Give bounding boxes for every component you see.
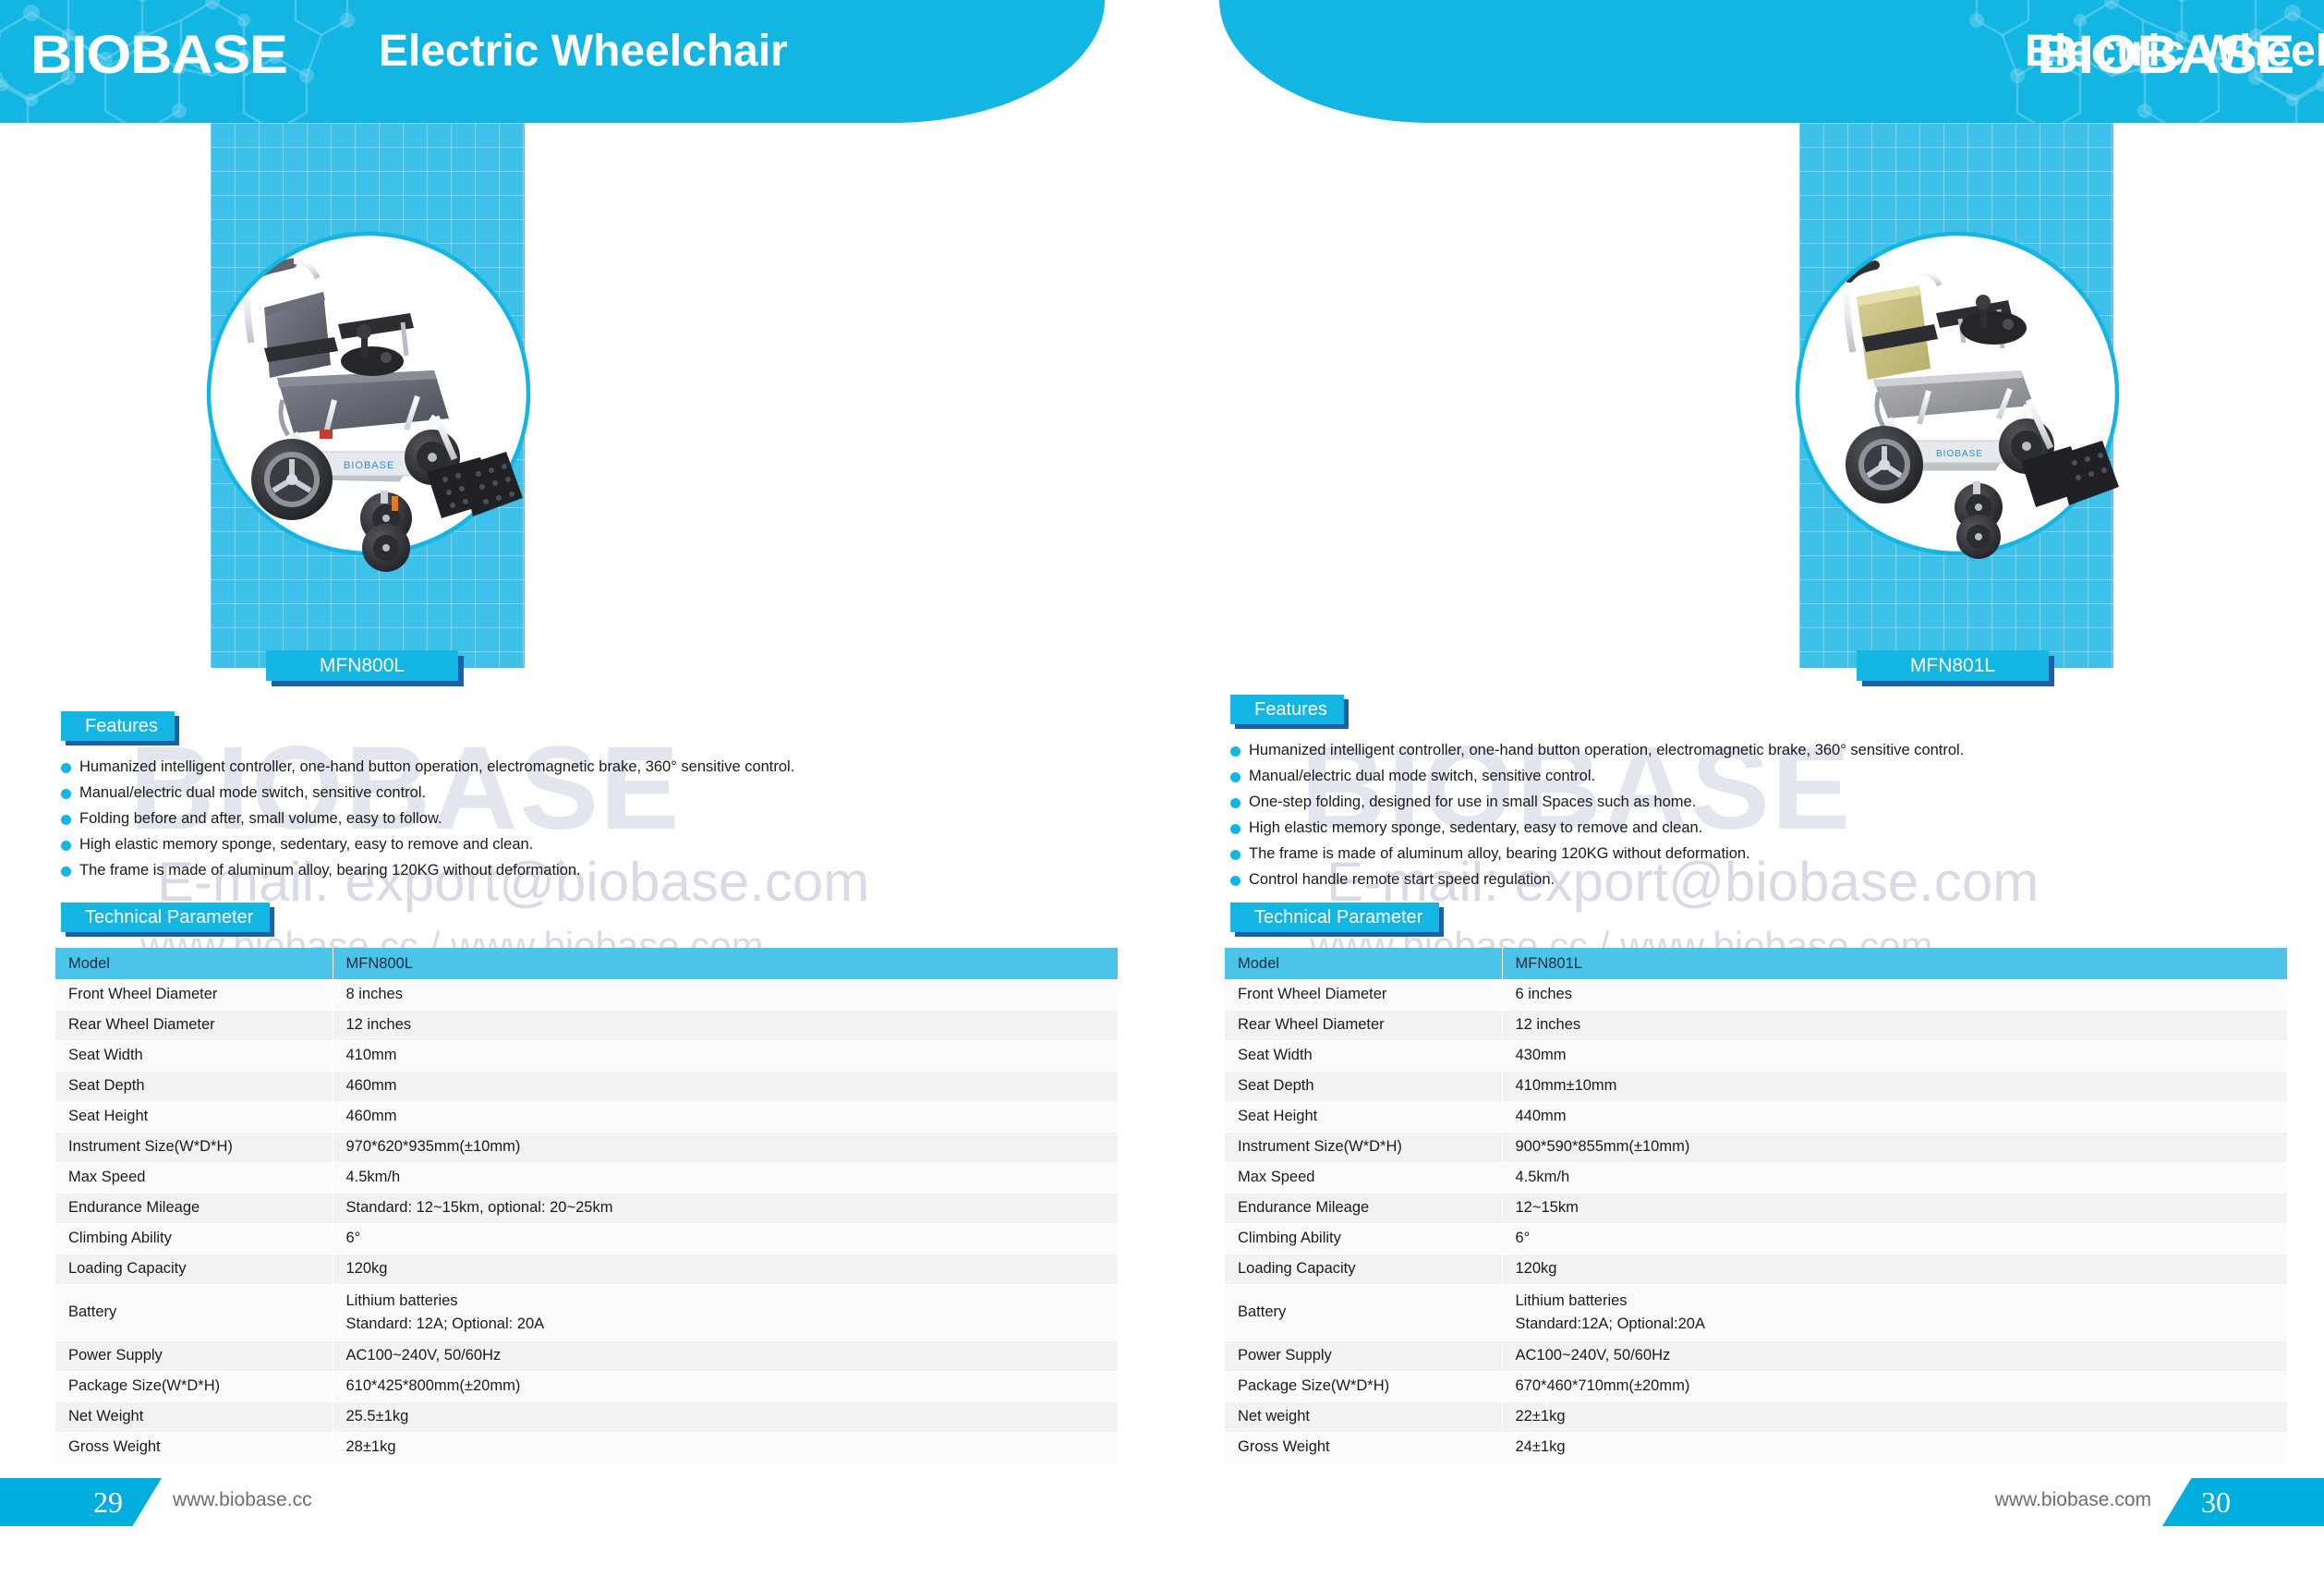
spec-value-cell: Lithium batteriesStandard: 12A; Optional… [333,1284,1118,1340]
feature-text: Manual/electric dual mode switch, sensit… [1249,767,1595,785]
table-header-cell: MFN800L [333,948,1118,979]
spec-label-cell: Package Size(W*D*H) [1225,1371,1502,1401]
footer-url[interactable]: www.biobase.com [1995,1489,2151,1511]
spec-label-cell: Battery [55,1284,333,1340]
table-row: Seat Width430mm [1225,1040,2287,1071]
table-row: Seat Height460mm [55,1101,1118,1132]
table-header-cell: Model [1225,948,1502,979]
spec-value-line: Lithium batteries [346,1290,1118,1313]
feature-item: One-step folding, designed for use in sm… [1230,793,2293,811]
feature-text: High elastic memory sponge, sedentary, e… [79,835,533,854]
spec-label-cell: Seat Depth [1225,1071,1502,1101]
table-row: Front Wheel Diameter8 inches [55,979,1118,1010]
table-row: Gross Weight28±1kg [55,1432,1118,1462]
footer-url[interactable]: www.biobase.cc [173,1489,312,1511]
spec-value-cell: 12 inches [1502,1010,2287,1040]
spec-label-cell: Loading Capacity [1225,1254,1502,1284]
feature-item: Humanized intelligent controller, one-ha… [1230,741,2293,759]
feature-text: High elastic memory sponge, sedentary, e… [1249,818,1702,837]
technical-parameter-badge: Technical Parameter [1230,903,1439,932]
features-section-badge: Features [61,711,175,741]
spec-label-cell: Net weight [1225,1401,1502,1432]
features-section-badge: Features [1230,695,1344,724]
spec-value-cell: 670*460*710mm(±20mm) [1502,1371,2287,1401]
spec-label-cell: Package Size(W*D*H) [55,1371,333,1401]
feature-item: Humanized intelligent controller, one-ha… [61,758,1123,776]
spec-value-line: Standard:12A; Optional:20A [1516,1313,2287,1336]
spec-label-cell: Endurance Mileage [1225,1193,1502,1223]
page-header-left: BIOBASE Electric Wheelchair [0,0,1105,123]
spec-table-left: Model MFN800L Front Wheel Diameter8 inch… [55,948,1119,1463]
table-row: Max Speed4.5km/h [1225,1162,2287,1193]
feature-text: The frame is made of aluminum alloy, bea… [79,861,581,879]
svg-text:BIOBASE: BIOBASE [1936,449,1983,459]
product-image-zone-left: BIOBASE [0,123,1162,686]
table-row: Front Wheel Diameter6 inches [1225,979,2287,1010]
spec-value-cell: Standard: 12~15km, optional: 20~25km [333,1193,1118,1223]
feature-item: Folding before and after, small volume, … [61,809,1123,828]
spec-label-cell: Net Weight [55,1401,333,1432]
spec-value-line: Lithium batteries [1516,1290,2287,1313]
table-header-row: Model MFN801L [1225,948,2287,979]
spec-label-cell: Power Supply [1225,1340,1502,1371]
table-row: Package Size(W*D*H)670*460*710mm(±20mm) [1225,1371,2287,1401]
spec-value-cell: 4.5km/h [333,1162,1118,1193]
spec-value-cell: 970*620*935mm(±10mm) [333,1132,1118,1162]
catalog-page-right: BIOBASE E-mail: export@biobase.com www.b… [1162,0,2324,1588]
bullet-dot-icon [1230,876,1241,886]
spec-value-cell: 25.5±1kg [333,1401,1118,1432]
table-row: Climbing Ability6° [1225,1223,2287,1254]
bullet-dot-icon [1230,746,1241,757]
spec-value-cell: 8 inches [333,979,1118,1010]
table-header-cell: Model [55,948,333,979]
spec-value-cell: 6° [1502,1223,2287,1254]
feature-item: Manual/electric dual mode switch, sensit… [61,783,1123,802]
table-row: Net weight22±1kg [1225,1401,2287,1432]
spec-value-cell: 610*425*800mm(±20mm) [333,1371,1118,1401]
page-title: Electric Wheelchair [379,26,788,77]
table-row: Instrument Size(W*D*H)900*590*855mm(±10m… [1225,1132,2287,1162]
spec-label-cell: Endurance Mileage [55,1193,333,1223]
spec-label-cell: Max Speed [55,1162,333,1193]
spec-table-body-right: Front Wheel Diameter6 inchesRear Wheel D… [1225,979,2287,1462]
bullet-dot-icon [1230,772,1241,782]
table-row: Package Size(W*D*H)610*425*800mm(±20mm) [55,1371,1118,1401]
spec-value-cell: 24±1kg [1502,1432,2287,1462]
bullet-dot-icon [61,867,71,877]
table-row: Loading Capacity120kg [55,1254,1118,1284]
feature-text: One-step folding, designed for use in sm… [1249,793,1696,811]
spec-value-cell: 430mm [1502,1040,2287,1071]
feature-item: High elastic memory sponge, sedentary, e… [1230,818,2293,837]
model-badge: MFN801L [1857,650,2049,681]
table-row: Max Speed4.5km/h [55,1162,1118,1193]
spec-label-cell: Power Supply [55,1340,333,1371]
spec-value-cell: 120kg [1502,1254,2287,1284]
bullet-dot-icon [61,789,71,799]
table-header-cell: MFN801L [1502,948,2287,979]
product-photo: BIOBASE [0,123,1162,686]
spec-value-cell: 22±1kg [1502,1401,2287,1432]
page-footer-right: 30 www.biobase.com [1162,1478,2324,1588]
feature-text: Folding before and after, small volume, … [79,809,442,828]
feature-item: Manual/electric dual mode switch, sensit… [1230,767,2293,785]
spec-value-cell: 6° [333,1223,1118,1254]
bullet-dot-icon [61,841,71,851]
spec-label-cell: Instrument Size(W*D*H) [55,1132,333,1162]
table-row: Seat Depth460mm [55,1071,1118,1101]
feature-text: Manual/electric dual mode switch, sensit… [79,783,426,802]
feature-item: The frame is made of aluminum alloy, bea… [61,861,1123,879]
feature-item: High elastic memory sponge, sedentary, e… [61,835,1123,854]
product-image-zone-right: BIOBASE [1162,123,2324,686]
spec-label-cell: Max Speed [1225,1162,1502,1193]
spec-label-cell: Seat Width [1225,1040,1502,1071]
spec-value-cell: 460mm [333,1101,1118,1132]
feature-text: The frame is made of aluminum alloy, bea… [1249,844,1750,863]
spec-label-cell: Climbing Ability [55,1223,333,1254]
table-row: Seat Depth410mm±10mm [1225,1071,2287,1101]
table-row: Endurance Mileage12~15km [1225,1193,2287,1223]
bullet-dot-icon [61,763,71,773]
page-footer-left: 29 www.biobase.cc [0,1478,1162,1588]
spec-value-cell: 6 inches [1502,979,2287,1010]
table-row: BatteryLithium batteriesStandard:12A; Op… [1225,1284,2287,1340]
table-row: Rear Wheel Diameter12 inches [55,1010,1118,1040]
spec-label-cell: Front Wheel Diameter [1225,979,1502,1010]
spec-label-cell: Rear Wheel Diameter [55,1010,333,1040]
spec-value-cell: 460mm [333,1071,1118,1101]
feature-text: Control handle remote start speed regula… [1249,870,1555,889]
table-row: Net Weight25.5±1kg [55,1401,1118,1432]
spec-value-cell: 440mm [1502,1101,2287,1132]
spec-value-cell: 410mm±10mm [1502,1071,2287,1101]
feature-item: Control handle remote start speed regula… [1230,870,2293,889]
spec-table-body-left: Front Wheel Diameter8 inchesRear Wheel D… [55,979,1118,1462]
feature-text: Humanized intelligent controller, one-ha… [1249,741,1964,759]
spec-table-right: Model MFN801L Front Wheel Diameter6 inch… [1225,948,2288,1463]
spec-label-cell: Battery [1225,1284,1502,1340]
page-header-right: BIOBASE Electric Wheelchair [1219,0,2324,123]
spec-label-cell: Seat Depth [55,1071,333,1101]
catalog-spread: BIOBASE E-mail: export@biobase.com www.b… [0,0,2324,1588]
spec-value-cell: AC100~240V, 50/60Hz [333,1340,1118,1371]
feature-text: Humanized intelligent controller, one-ha… [79,758,794,776]
brand-logo: BIOBASE [30,24,287,86]
bullet-dot-icon [1230,824,1241,834]
spec-value-line: Standard: 12A; Optional: 20A [346,1313,1118,1336]
spec-label-cell: Front Wheel Diameter [55,979,333,1010]
page-number: 29 [0,1478,162,1526]
spec-value-cell: AC100~240V, 50/60Hz [1502,1340,2287,1371]
table-row: Gross Weight24±1kg [1225,1432,2287,1462]
product-photo: BIOBASE [1162,123,2324,686]
table-row: Rear Wheel Diameter12 inches [1225,1010,2287,1040]
spec-value-cell: 12 inches [333,1010,1118,1040]
features-list-left: Humanized intelligent controller, one-ha… [61,758,1123,887]
spec-label-cell: Seat Width [55,1040,333,1071]
page-seam-divider [1160,0,1162,1588]
bullet-dot-icon [1230,850,1241,860]
svg-text:BIOBASE: BIOBASE [344,460,394,471]
table-row: Climbing Ability6° [55,1223,1118,1254]
bullet-dot-icon [1230,798,1241,808]
spec-label-cell: Gross Weight [1225,1432,1502,1462]
bullet-dot-icon [61,815,71,825]
spec-label-cell: Instrument Size(W*D*H) [1225,1132,1502,1162]
model-badge: MFN800L [266,650,458,681]
page-title: Electric Wheelchair [2025,26,2324,77]
feature-item: The frame is made of aluminum alloy, bea… [1230,844,2293,863]
catalog-page-left: BIOBASE E-mail: export@biobase.com www.b… [0,0,1162,1588]
spec-value-cell: 410mm [333,1040,1118,1071]
features-list-right: Humanized intelligent controller, one-ha… [1230,741,2293,896]
spec-label-cell: Rear Wheel Diameter [1225,1010,1502,1040]
table-row: Power SupplyAC100~240V, 50/60Hz [1225,1340,2287,1371]
table-row: Power SupplyAC100~240V, 50/60Hz [55,1340,1118,1371]
spec-value-cell: 12~15km [1502,1193,2287,1223]
spec-value-cell: 4.5km/h [1502,1162,2287,1193]
table-row: BatteryLithium batteriesStandard: 12A; O… [55,1284,1118,1340]
table-row: Instrument Size(W*D*H)970*620*935mm(±10m… [55,1132,1118,1162]
table-header-row: Model MFN800L [55,948,1118,979]
spec-label-cell: Seat Height [55,1101,333,1132]
spec-label-cell: Seat Height [1225,1101,1502,1132]
spec-value-cell: 900*590*855mm(±10mm) [1502,1132,2287,1162]
spec-value-cell: Lithium batteriesStandard:12A; Optional:… [1502,1284,2287,1340]
page-number: 30 [2162,1478,2324,1526]
table-row: Endurance MileageStandard: 12~15km, opti… [55,1193,1118,1223]
spec-label-cell: Loading Capacity [55,1254,333,1284]
technical-parameter-badge: Technical Parameter [61,903,270,932]
spec-value-cell: 120kg [333,1254,1118,1284]
spec-label-cell: Climbing Ability [1225,1223,1502,1254]
spec-label-cell: Gross Weight [55,1432,333,1462]
spec-value-cell: 28±1kg [333,1432,1118,1462]
table-row: Loading Capacity120kg [1225,1254,2287,1284]
table-row: Seat Width410mm [55,1040,1118,1071]
table-row: Seat Height440mm [1225,1101,2287,1132]
